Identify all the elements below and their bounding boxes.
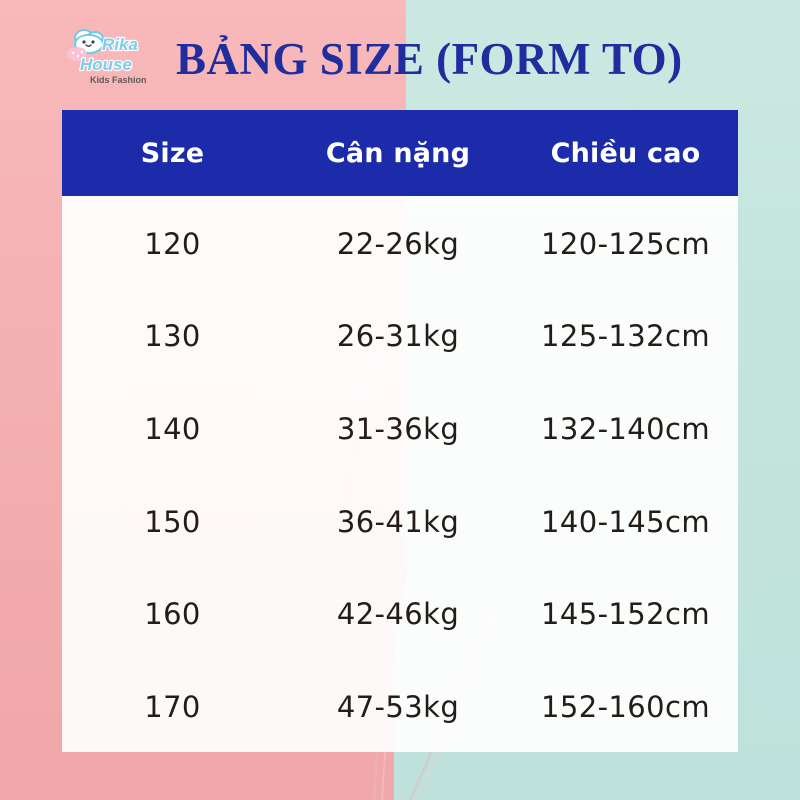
cell-weight: 22-26kg xyxy=(286,196,513,289)
column-header-size: Size xyxy=(62,110,286,196)
column-header-weight: Cân nặng xyxy=(286,110,513,196)
cell-height: 145-152cm xyxy=(513,566,738,659)
cell-height: 132-140cm xyxy=(513,381,738,474)
cell-size: 120 xyxy=(62,196,286,289)
cell-height: 120-125cm xyxy=(513,196,738,289)
cell-size: 160 xyxy=(62,566,286,659)
cell-weight: 26-31kg xyxy=(286,289,513,382)
table-row: 140 31-36kg 132-140cm xyxy=(62,381,738,474)
cell-height: 125-132cm xyxy=(513,289,738,382)
size-chart-poster: Rika House Kids Fashion BẢNG SIZE (FORM … xyxy=(0,0,800,800)
brand-logo: Rika House Kids Fashion xyxy=(62,26,170,88)
table-row: 120 22-26kg 120-125cm xyxy=(62,196,738,289)
cell-weight: 31-36kg xyxy=(286,381,513,474)
svg-text:Kids Fashion: Kids Fashion xyxy=(90,75,147,85)
column-header-height: Chiều cao xyxy=(513,110,738,196)
table-row: 160 42-46kg 145-152cm xyxy=(62,566,738,659)
cell-weight: 42-46kg xyxy=(286,566,513,659)
cell-size: 150 xyxy=(62,474,286,567)
svg-text:Rika: Rika xyxy=(102,35,138,54)
cloud-bunny-icon: Rika House Kids Fashion xyxy=(62,26,170,88)
cell-weight: 36-41kg xyxy=(286,474,513,567)
table-row: 170 47-53kg 152-160cm xyxy=(62,659,738,752)
cell-height: 152-160cm xyxy=(513,659,738,752)
svg-text:House: House xyxy=(80,55,132,74)
page-title: BẢNG SIZE (FORM TO) xyxy=(176,28,776,90)
table-row: 130 26-31kg 125-132cm xyxy=(62,289,738,382)
table-row: 150 36-41kg 140-145cm xyxy=(62,474,738,567)
cell-size: 130 xyxy=(62,289,286,382)
size-table: Size Cân nặng Chiều cao 120 22-26kg 120-… xyxy=(62,110,738,752)
cell-height: 140-145cm xyxy=(513,474,738,567)
cell-size: 170 xyxy=(62,659,286,752)
cell-size: 140 xyxy=(62,381,286,474)
table-header-row: Size Cân nặng Chiều cao xyxy=(62,110,738,196)
cell-weight: 47-53kg xyxy=(286,659,513,752)
